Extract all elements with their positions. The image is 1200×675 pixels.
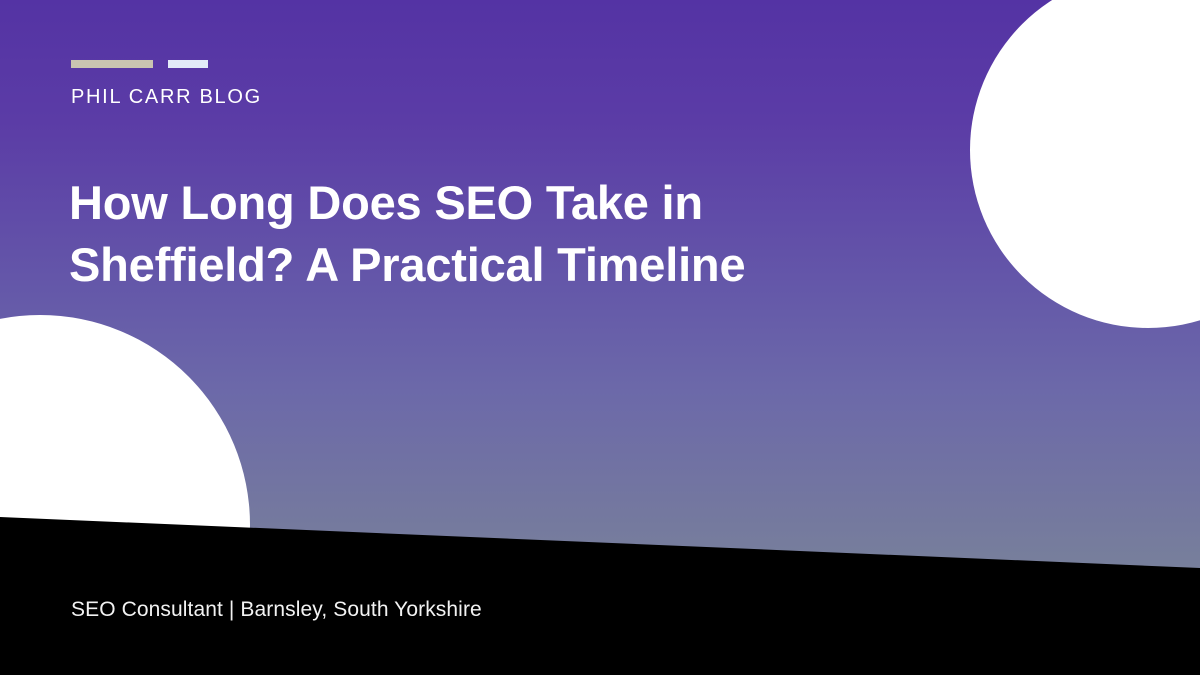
card-content: PHIL CARR BLOG How Long Does SEO Take in… (0, 0, 1200, 675)
footer-byline: SEO Consultant | Barnsley, South Yorkshi… (71, 598, 482, 622)
accent-bars (71, 60, 208, 68)
brand-label: PHIL CARR BLOG (71, 86, 262, 109)
accent-bar-secondary-icon (168, 60, 208, 68)
page-title-line-1: How Long Does SEO Take in (69, 172, 969, 234)
page-title: How Long Does SEO Take in Sheffield? A P… (69, 172, 969, 296)
blog-title-card: PHIL CARR BLOG How Long Does SEO Take in… (0, 0, 1200, 675)
accent-bar-primary-icon (71, 60, 153, 68)
page-title-line-2: Sheffield? A Practical Timeline (69, 234, 969, 296)
